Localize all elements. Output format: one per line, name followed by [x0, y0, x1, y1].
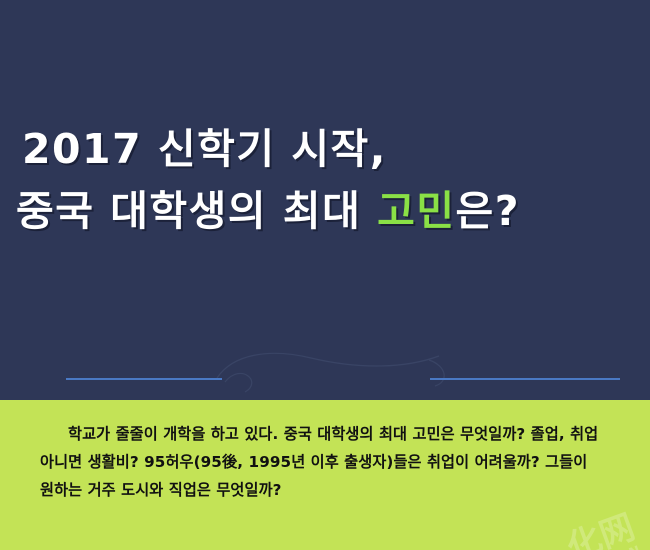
article-card: 2017 신학기 시작, 중국 대학생의 최대 고민은? 학교가 줄줄이 개학을… [0, 0, 650, 550]
title-line-1: 2017 신학기 시작, [0, 118, 650, 180]
watermark-sub: CN [576, 544, 644, 550]
body-panel: 학교가 줄줄이 개학을 하고 있다. 중국 대학생의 최대 고민은 무엇일까? … [0, 400, 650, 550]
page-title: 2017 신학기 시작, 중국 대학생의 최대 고민은? [0, 118, 650, 258]
title-line-2-suffix: 은? [456, 187, 521, 235]
watermark: 化网 CN [563, 510, 644, 550]
title-highlight-keyword: 고민 [377, 187, 455, 235]
hero-panel: 2017 신학기 시작, 중국 대학생의 최대 고민은? [0, 0, 650, 400]
divider-left [66, 378, 222, 380]
title-line-2-prefix: 중국 대학생의 최대 [16, 187, 377, 235]
body-paragraph: 학교가 줄줄이 개학을 하고 있다. 중국 대학생의 최대 고민은 무엇일까? … [40, 420, 608, 504]
swirl-ornament-icon [215, 352, 455, 400]
title-line-2: 중국 대학생의 최대 고민은? [0, 180, 650, 242]
watermark-main: 化网 [562, 507, 640, 550]
divider-right [430, 378, 620, 380]
